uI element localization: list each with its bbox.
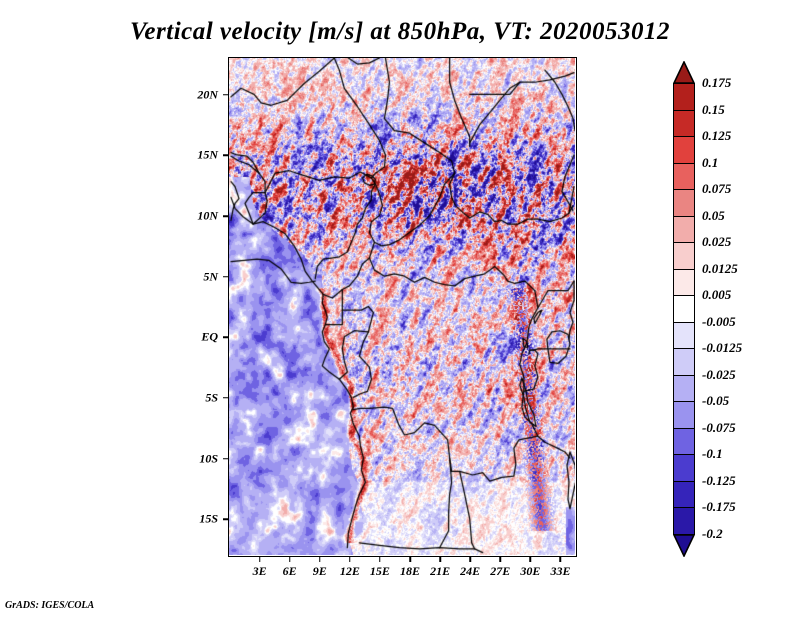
colorbar-tick-label: 0.025 — [702, 234, 731, 250]
lon-tick-label: 33E — [550, 564, 570, 579]
lon-tick-label: 18E — [400, 564, 420, 579]
lon-tick-mark — [469, 557, 471, 562]
colorbar-cell — [673, 189, 695, 217]
colorbar-cell — [673, 269, 695, 297]
colorbar-cell — [673, 428, 695, 456]
colorbar-cell — [673, 216, 695, 244]
lon-tick-label: 21E — [430, 564, 450, 579]
colorbar-cell — [673, 136, 695, 164]
lon-tick-mark — [560, 557, 562, 562]
lat-tick-mark — [223, 337, 228, 339]
colorbar-tick-label: 0.0125 — [702, 261, 738, 277]
lon-tick-mark — [439, 557, 441, 562]
colorbar-tick-label: -0.125 — [702, 473, 736, 489]
lon-tick-label: 30E — [520, 564, 540, 579]
colorbar-cell — [673, 163, 695, 191]
lat-tick-label: 5N — [203, 269, 218, 284]
colorbar-cell — [673, 401, 695, 429]
colorbar-cell — [673, 295, 695, 323]
lat-tick-label: 5S — [205, 390, 218, 405]
colorbar-cell — [673, 481, 695, 509]
lat-tick-mark — [223, 518, 228, 520]
colorbar-arrow-bottom — [673, 534, 695, 556]
colorbar — [673, 61, 695, 556]
lon-tick-mark — [349, 557, 351, 562]
colorbar-cell — [673, 110, 695, 138]
lat-tick-label: 20N — [197, 87, 218, 102]
lat-tick-mark — [223, 94, 228, 96]
colorbar-tick-label: -0.025 — [702, 367, 736, 383]
vertical-velocity-map — [228, 57, 577, 557]
colorbar-tick-label: 0.05 — [702, 208, 725, 224]
lon-tick-mark — [379, 557, 381, 562]
lat-tick-mark — [223, 458, 228, 460]
colorbar-cell — [673, 83, 695, 111]
colorbar-tick-label: -0.005 — [702, 314, 736, 330]
colorbar-tick-label: 0.005 — [702, 287, 731, 303]
lat-tick-mark — [223, 215, 228, 217]
colorbar-cell — [673, 242, 695, 270]
lon-tick-label: 12E — [340, 564, 360, 579]
colorbar-cell — [673, 322, 695, 350]
lon-tick-label: 24E — [460, 564, 480, 579]
lon-tick-mark — [319, 557, 321, 562]
lon-tick-label: 15E — [370, 564, 390, 579]
lat-tick-mark — [223, 276, 228, 278]
lon-tick-mark — [259, 557, 261, 562]
colorbar-tick-label: -0.175 — [702, 499, 736, 515]
colorbar-cell — [673, 375, 695, 403]
colorbar-tick-label: 0.1 — [702, 155, 718, 171]
colorbar-arrow-top — [673, 61, 695, 83]
lat-tick-mark — [223, 155, 228, 157]
lat-tick-label: 10N — [197, 209, 218, 224]
colorbar-tick-label: -0.2 — [702, 526, 723, 542]
lon-tick-label: 3E — [253, 564, 267, 579]
lon-tick-label: 27E — [490, 564, 510, 579]
footer-credit: GrADS: IGES/COLA — [5, 600, 94, 611]
colorbar-tick-label: -0.075 — [702, 420, 736, 436]
colorbar-tick-label: 0.125 — [702, 128, 731, 144]
colorbar-tick-label: -0.1 — [702, 446, 723, 462]
colorbar-tick-label: -0.0125 — [702, 340, 742, 356]
colorbar-cell — [673, 507, 695, 535]
lon-tick-mark — [289, 557, 291, 562]
page-title: Vertical velocity [m/s] at 850hPa, VT: 2… — [0, 18, 800, 46]
lon-tick-label: 9E — [313, 564, 327, 579]
colorbar-tick-label: 0.15 — [702, 102, 725, 118]
lat-tick-mark — [223, 397, 228, 399]
colorbar-tick-label: 0.075 — [702, 181, 731, 197]
lat-tick-label: EQ — [201, 330, 218, 345]
lon-tick-mark — [530, 557, 532, 562]
colorbar-cell — [673, 348, 695, 376]
colorbar-tick-label: -0.05 — [702, 393, 729, 409]
colorbar-cell — [673, 454, 695, 482]
lon-tick-label: 6E — [283, 564, 297, 579]
lat-tick-label: 10S — [199, 451, 218, 466]
lon-tick-mark — [409, 557, 411, 562]
country-borders-overlay — [229, 58, 575, 555]
lon-tick-mark — [500, 557, 502, 562]
lat-tick-label: 15S — [199, 512, 218, 527]
lat-tick-label: 15N — [197, 148, 218, 163]
colorbar-tick-label: 0.175 — [702, 75, 731, 91]
